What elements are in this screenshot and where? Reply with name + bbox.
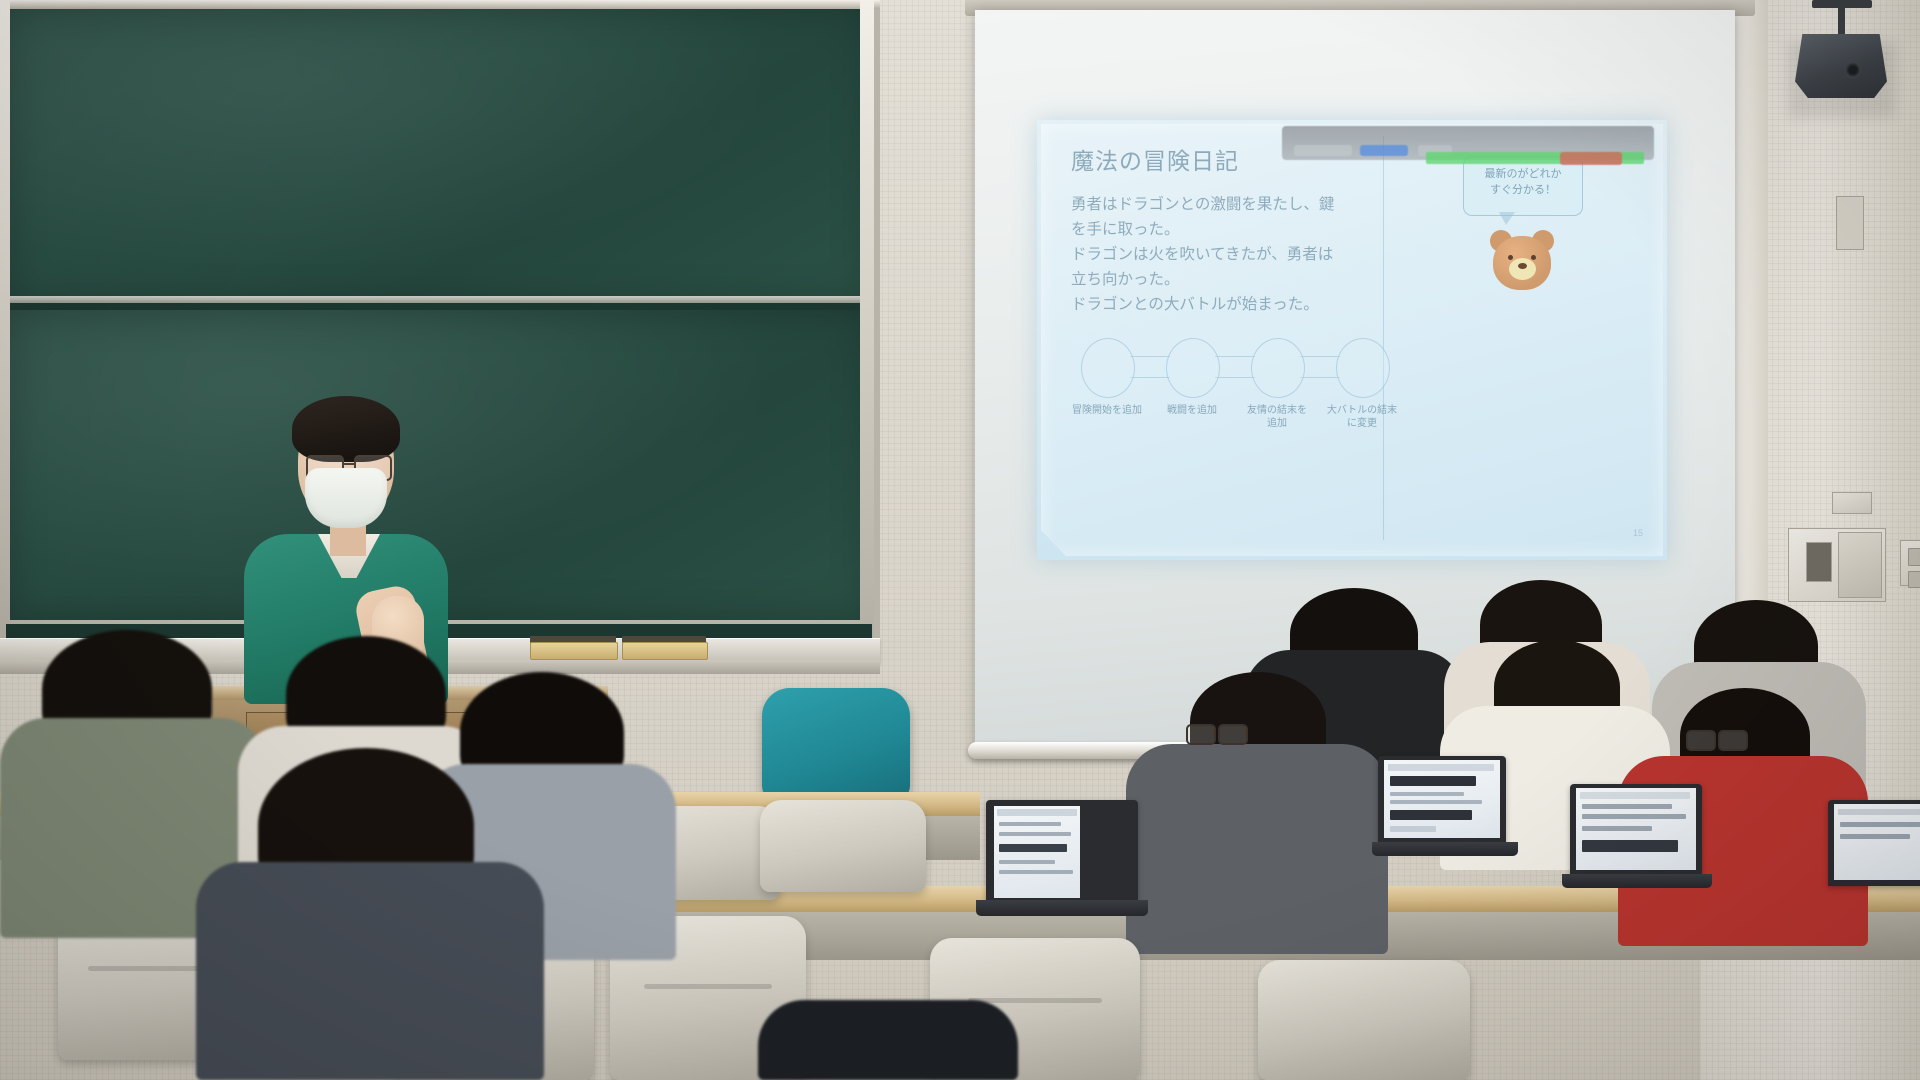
chalkboard-top-rail — [0, 0, 880, 9]
glasses-right-icon — [1218, 724, 1248, 745]
panel-display — [1806, 542, 1832, 582]
chalkboard-left-rail — [0, 0, 10, 660]
lecture-seat[interactable] — [760, 800, 926, 892]
timeline-node-label: 友情の結末を 追加 — [1239, 404, 1315, 430]
ceiling-speaker-icon — [1795, 34, 1887, 98]
slide-column-divider — [1383, 136, 1384, 540]
torso — [758, 1000, 1018, 1080]
torso — [1126, 744, 1388, 954]
slide-title: 魔法の冒険日記 — [1071, 142, 1239, 176]
chalkboard-right-rail — [860, 0, 874, 660]
chalkboard-upper — [6, 6, 872, 306]
wall-plate-small — [1832, 492, 1872, 514]
timeline-node[interactable] — [1251, 338, 1305, 398]
lecture-seat[interactable] — [1258, 960, 1470, 1080]
wall-plate-upper — [1836, 196, 1864, 250]
classroom-photo: 魔法の冒険日記 勇者はドラゴンとの激闘を果たし、鍵 を手に取った。 ドラゴンは火… — [0, 0, 1920, 1080]
glasses-left-icon — [1186, 724, 1216, 745]
bear-mascot-icon — [1489, 228, 1555, 292]
glasses-left-icon — [1686, 730, 1716, 751]
light-switch[interactable] — [1908, 548, 1920, 566]
laptop-base[interactable] — [976, 900, 1148, 916]
chalkboard-mid-rail — [6, 296, 872, 303]
glasses-right-icon — [1718, 730, 1748, 751]
torso — [196, 862, 544, 1080]
blackboard-eraser[interactable] — [622, 642, 708, 660]
slide-page-number: 15 — [1633, 528, 1643, 538]
blackboard-eraser[interactable] — [530, 642, 618, 660]
timeline-node-label: 冒険開始を追加 — [1069, 404, 1145, 417]
laptop-base[interactable] — [1372, 842, 1518, 856]
bear-eye-left-icon — [1508, 255, 1513, 260]
timeline-node-label: 大バトルの結末 に変更 — [1324, 404, 1400, 430]
light-switch[interactable] — [1908, 571, 1920, 589]
teal-chair-backrest[interactable] — [762, 688, 910, 800]
seat-handle-slot — [88, 966, 206, 971]
timeline-link — [1215, 356, 1255, 378]
presenter-hair — [292, 396, 400, 462]
speech-bubble-text: 最新のがどれか すぐ分かる！ — [1471, 166, 1575, 198]
glasses-bridge-icon — [342, 463, 356, 465]
timeline-node[interactable] — [1081, 338, 1135, 398]
stop-recording-button[interactable] — [1560, 152, 1622, 165]
timeline-link — [1300, 356, 1340, 378]
laptop-screen — [1384, 760, 1500, 838]
laptop-screen — [1576, 788, 1696, 870]
bear-eye-right-icon — [1531, 255, 1536, 260]
light-switch-grid[interactable] — [1902, 542, 1920, 594]
timeline-node[interactable] — [1336, 338, 1390, 398]
bear-muzzle-icon — [1509, 258, 1536, 280]
laptop-screen — [1834, 804, 1920, 880]
projected-slide: 魔法の冒険日記 勇者はドラゴンとの激闘を果たし、鍵 を手に取った。 ドラゴンは火… — [1037, 120, 1667, 560]
timeline-link — [1130, 356, 1170, 378]
toolbar-chip-active[interactable] — [1360, 145, 1408, 156]
speech-bubble-tail-icon — [1499, 212, 1515, 225]
seat-handle-slot — [644, 984, 772, 989]
laptop-screen — [994, 806, 1080, 898]
slide-body-text: 勇者はドラゴンとの激闘を果たし、鍵 を手に取った。 ドラゴンは火を吹いてきたが、… — [1071, 192, 1371, 318]
bear-nose-icon — [1518, 263, 1527, 269]
timeline-node[interactable] — [1166, 338, 1220, 398]
face-mask-icon — [305, 468, 387, 528]
toolbar-chip[interactable] — [1294, 145, 1352, 156]
laptop-base[interactable] — [1562, 874, 1712, 888]
wall-control-panel-door[interactable] — [1838, 532, 1882, 598]
timeline-node-label: 戦闘を追加 — [1154, 404, 1230, 417]
speaker-cone-icon — [1845, 62, 1861, 78]
